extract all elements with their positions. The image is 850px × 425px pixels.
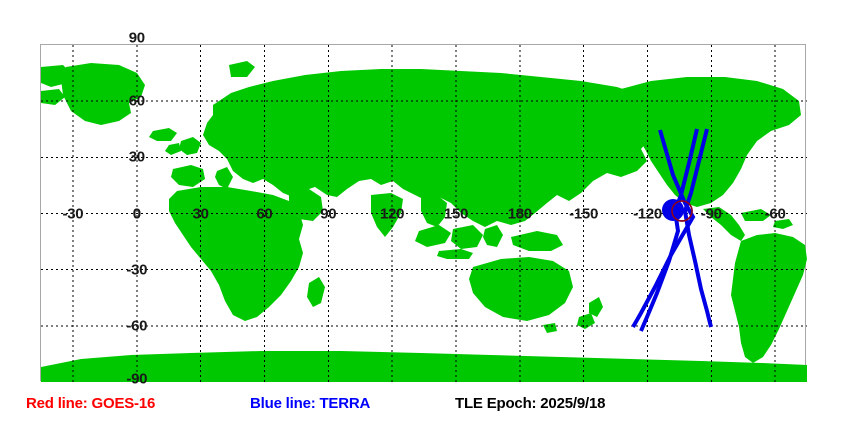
lat-tick-30: 30 — [129, 150, 145, 165]
lon-tick-30: 30 — [193, 206, 209, 221]
legend: Red line: GOES-16 Blue line: TERRA TLE E… — [0, 396, 850, 420]
land-svalbard — [229, 61, 255, 77]
lon-tick-m30: -30 — [63, 206, 84, 221]
land-north-america — [615, 77, 801, 207]
world-map-panel: 90 60 30 0 -30 -60 -90 -30 0 30 60 90 12… — [40, 44, 806, 381]
legend-tle-epoch: TLE Epoch: 2025/9/18 — [455, 396, 605, 411]
land-south-america — [731, 233, 807, 363]
land-iberia — [171, 165, 205, 187]
lon-tick-180: 180 — [508, 206, 532, 221]
lon-tick-m150: -150 — [569, 206, 598, 221]
lon-tick-60: 60 — [256, 206, 272, 221]
lon-tick-0: 0 — [133, 206, 141, 221]
lon-tick-120: 120 — [380, 206, 404, 221]
lat-tick-90: 90 — [129, 31, 145, 46]
land-arctic-islands-2 — [41, 89, 65, 105]
world-map-svg — [41, 45, 807, 382]
lon-tick-m90: -90 — [701, 206, 722, 221]
lon-tick-m120: -120 — [633, 206, 662, 221]
land-tasmania — [543, 323, 557, 333]
legend-blue-line-terra: Blue line: TERRA — [250, 396, 370, 411]
land-new-zealand-2 — [577, 313, 595, 329]
legend-red-line-goes16: Red line: GOES-16 — [26, 396, 155, 411]
lon-tick-150: 150 — [444, 206, 468, 221]
lat-tick-m60: -60 — [126, 318, 147, 333]
land-sulawesi — [483, 225, 503, 247]
land-new-guinea — [511, 231, 563, 251]
land-italy — [215, 167, 233, 189]
land-sumatra — [415, 225, 451, 247]
satellite-marker-terra — [662, 199, 684, 221]
lat-tick-60: 60 — [129, 94, 145, 109]
lon-tick-90: 90 — [320, 206, 336, 221]
land-antarctica — [41, 351, 807, 382]
land-australia — [469, 257, 573, 321]
land-ireland — [165, 143, 181, 155]
land-java — [437, 249, 473, 259]
lat-tick-m90: -90 — [126, 372, 147, 387]
land-iceland — [149, 128, 177, 141]
lon-tick-m60: -60 — [765, 206, 786, 221]
land-western-europe — [179, 137, 201, 155]
land-madagascar — [307, 277, 325, 307]
lat-tick-m30: -30 — [126, 262, 147, 277]
land-africa — [169, 187, 303, 321]
